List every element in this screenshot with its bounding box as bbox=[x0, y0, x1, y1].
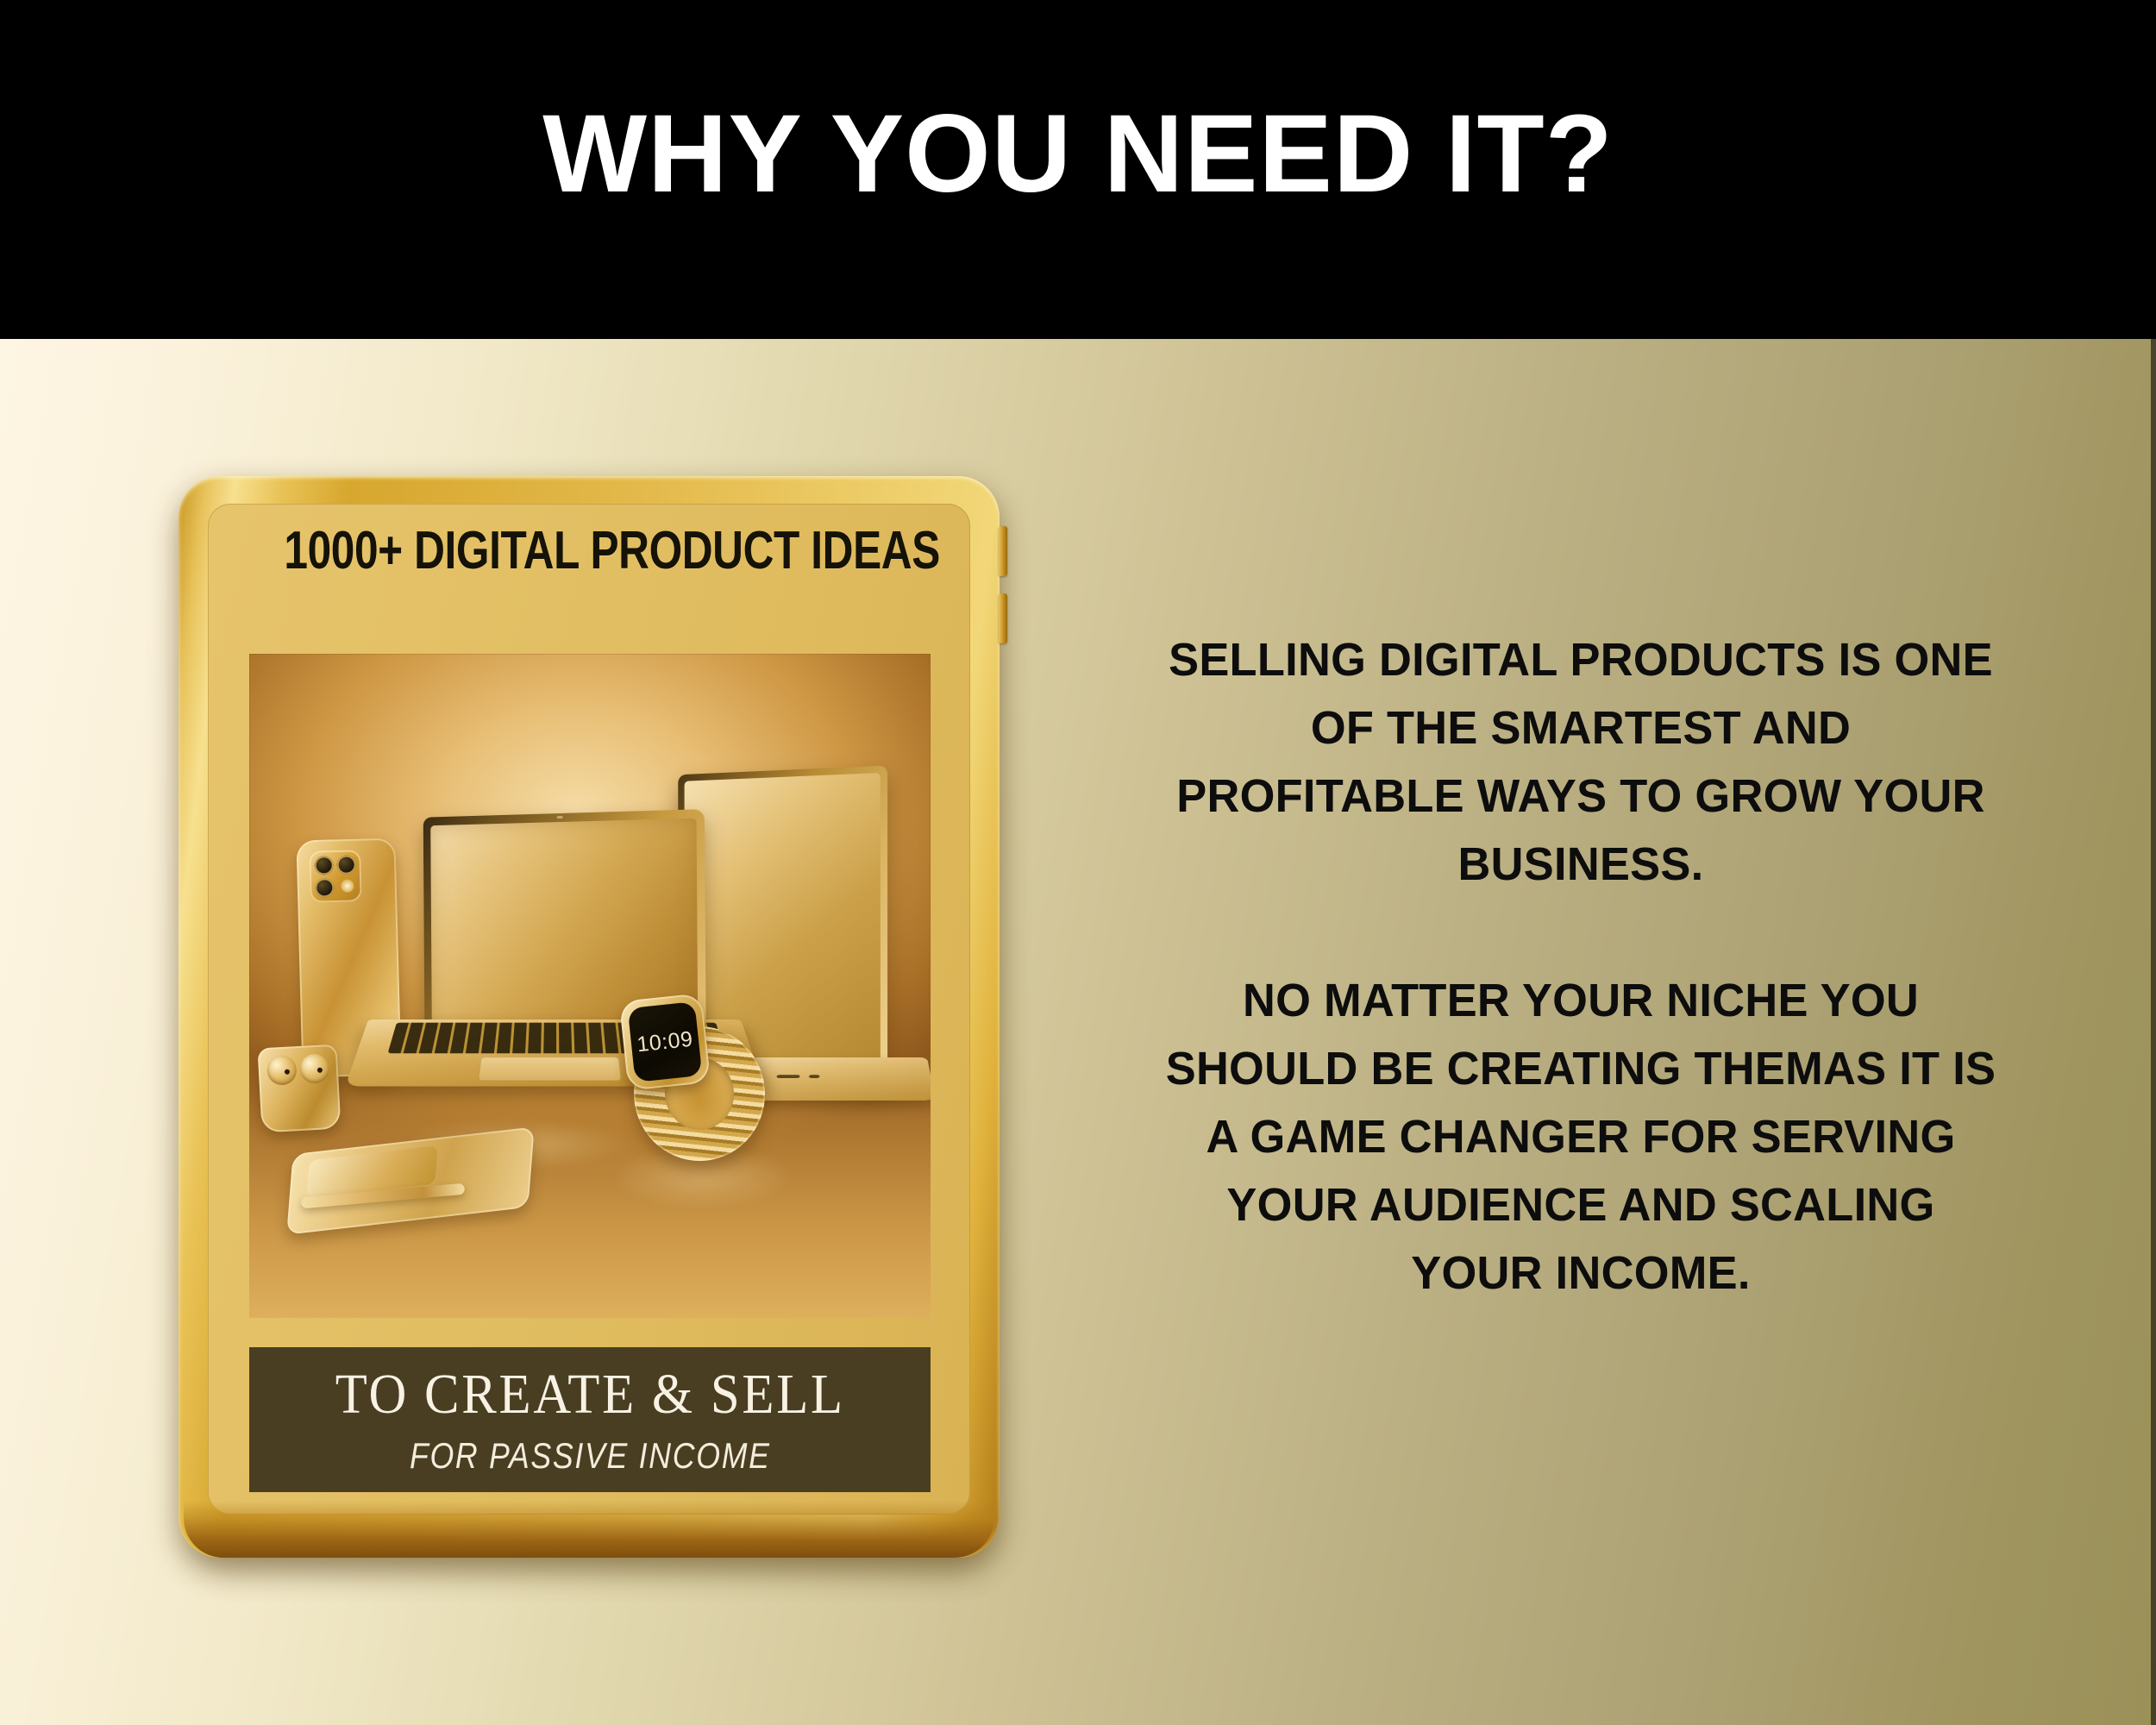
laptop-trackpad-icon bbox=[478, 1057, 622, 1081]
camera-lens-icon bbox=[315, 878, 335, 898]
cover-band-main-text: TO CREATE & SELL bbox=[335, 1366, 844, 1423]
tablet-screen: 1000+ DIGITAL PRODUCT IDEAS bbox=[208, 504, 970, 1515]
volume-up-button-icon bbox=[999, 526, 1007, 576]
phone-camera-module-icon bbox=[309, 850, 362, 903]
earbuds-case-icon bbox=[257, 1044, 341, 1133]
cover-band-sub-text: FOR PASSIVE INCOME bbox=[410, 1438, 771, 1474]
camera-lens-icon bbox=[314, 856, 334, 875]
cover-subtitle-band: TO CREATE & SELL FOR PASSIVE INCOME bbox=[249, 1347, 931, 1492]
smartwatch-time: 10:09 bbox=[636, 1026, 694, 1057]
copy-paragraph-2: NO MATTER YOUR NICHE YOU SHOULD BE CREAT… bbox=[1162, 967, 2000, 1308]
volume-down-button-icon bbox=[999, 593, 1007, 643]
tablet-bottom-bezel bbox=[184, 1501, 994, 1558]
copy-block: SELLING DIGITAL PRODUCTS IS ONE OF THE S… bbox=[1149, 626, 2013, 1308]
header-bar: WHY YOU NEED IT? bbox=[0, 0, 2156, 339]
earbud-icon bbox=[299, 1053, 330, 1084]
smartwatch-face: 10:09 bbox=[628, 1001, 703, 1082]
tablet-device-frame: 1000+ DIGITAL PRODUCT IDEAS bbox=[179, 476, 1000, 1558]
product-mockup: 1000+ DIGITAL PRODUCT IDEAS bbox=[179, 476, 1005, 1561]
tablet-port-icon bbox=[776, 1075, 799, 1078]
copy-paragraph-1: SELLING DIGITAL PRODUCTS IS ONE OF THE S… bbox=[1162, 626, 2000, 899]
cover-photo: 10:09 bbox=[249, 654, 931, 1318]
laptop-webcam-icon bbox=[557, 816, 563, 819]
earbud-icon bbox=[266, 1055, 298, 1086]
page-title: WHY YOU NEED IT? bbox=[542, 99, 1614, 210]
cover-title: 1000+ DIGITAL PRODUCT IDEAS bbox=[284, 524, 893, 578]
right-edge-divider bbox=[2151, 0, 2156, 1725]
smartwatch-icon: 10:09 bbox=[619, 993, 711, 1090]
promo-slide: WHY YOU NEED IT? 1000+ DIGITAL PRODUCT I… bbox=[0, 0, 2156, 1725]
copy-paragraph-spacer bbox=[1149, 899, 2013, 967]
camera-flash-icon bbox=[341, 879, 354, 892]
tablet-port-icon bbox=[809, 1075, 820, 1078]
camera-lens-icon bbox=[336, 855, 356, 875]
